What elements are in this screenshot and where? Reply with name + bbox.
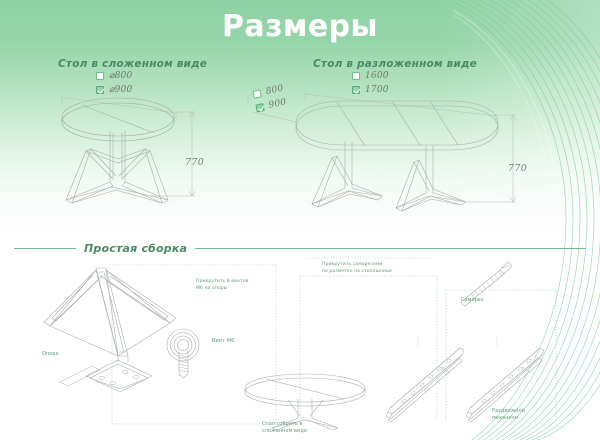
page-title: Размеры (0, 9, 600, 44)
assembly-heading: Простая сборка (76, 242, 195, 255)
checkbox-unchecked-icon[interactable] (96, 72, 104, 80)
divider-left (14, 248, 76, 249)
option-row[interactable]: ⌀900 (96, 84, 132, 96)
option-label: ⌀900 (109, 85, 132, 95)
section-heading-unfolded: Стол в разложенном виде (313, 58, 477, 70)
option-label: 1600 (365, 71, 389, 81)
dimension-height-folded: 770 (185, 157, 204, 168)
option-group-unfolded-length: 1600 1700 (352, 70, 389, 98)
part-label-self-tapping-screw: Саморез (461, 297, 484, 304)
note-screws: Прикрутить 8 винтов М6 на опоры (196, 279, 266, 292)
checkbox-checked-icon[interactable] (96, 86, 104, 94)
option-row[interactable]: 1700 (352, 84, 389, 96)
checkbox-unchecked-icon[interactable] (252, 89, 261, 98)
option-label: 900 (268, 97, 287, 110)
part-label-slide-mechanism: Раздвижной механизм (492, 408, 554, 423)
part-label-opora: Опора (42, 351, 59, 358)
option-label: 800 (265, 84, 284, 97)
option-label: 1700 (365, 85, 389, 95)
part-label-bolt-m6: Винт М6 (212, 338, 234, 345)
assembly-section-header: Простая сборка (0, 239, 600, 257)
section-heading-folded: Стол в сложенном виде (58, 58, 207, 70)
option-row[interactable]: 1600 (352, 70, 389, 82)
checkbox-unchecked-icon[interactable] (352, 72, 360, 80)
option-group-folded-diameter: ⌀800 ⌀900 (96, 70, 132, 98)
note-selftapping-screws: Прикрутить саморезами по разметке на сто… (322, 262, 414, 275)
dimension-height-unfolded: 770 (508, 163, 527, 174)
checkbox-checked-icon[interactable] (352, 86, 360, 94)
divider-right (195, 248, 586, 249)
checkbox-checked-icon[interactable] (255, 103, 264, 112)
option-row[interactable]: ⌀800 (96, 70, 132, 82)
part-label-assemble-folded: Стол собрать в сложенном виде (262, 421, 324, 436)
infographic-page: Размеры Стол в сложенном виде Стол в раз… (0, 0, 600, 440)
option-label: ⌀800 (109, 71, 132, 81)
